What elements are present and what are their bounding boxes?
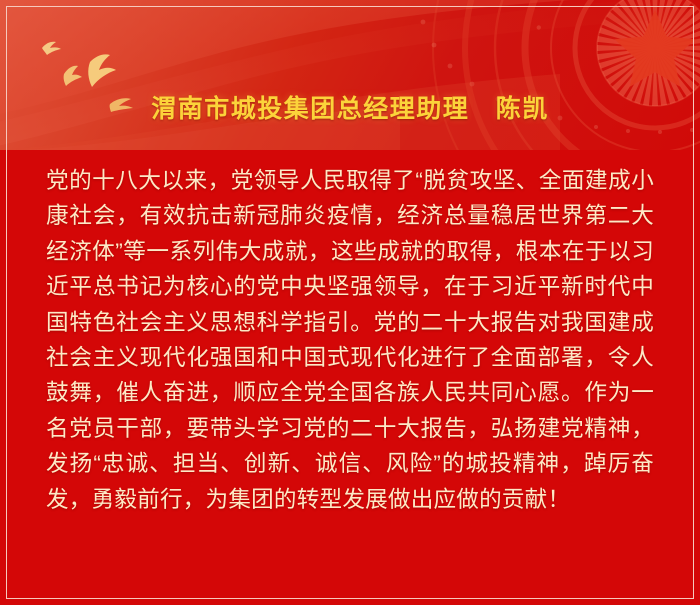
speech-paragraph: 党的十八大以来，党领导人民取得了“脱贫攻坚、全面建成小康社会，有效抗击新冠肺炎疫… [46, 163, 654, 517]
header-decoration-svg [0, 0, 700, 150]
poster-container: 渭南市城投集团总经理助理 陈凯 党的十八大以来，党领导人民取得了“脱贫攻坚、全面… [0, 0, 700, 605]
page-title: 渭南市城投集团总经理助理 陈凯 [0, 96, 700, 124]
speech-content: 党的十八大以来，党领导人民取得了“脱贫攻坚、全面建成小康社会，有效抗击新冠肺炎疫… [46, 163, 654, 517]
header-banner: 渭南市城投集团总经理助理 陈凯 [0, 0, 700, 150]
